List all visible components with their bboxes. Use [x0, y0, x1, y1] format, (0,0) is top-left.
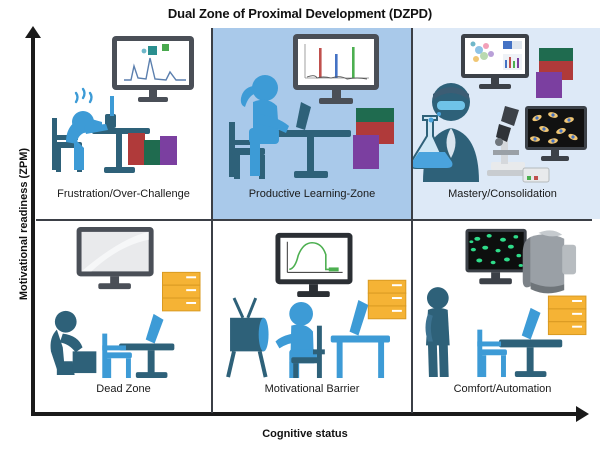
productive-learning-scene-icon	[213, 30, 411, 186]
server-stack	[548, 296, 586, 335]
y-axis-label: Motivational readiness (ZPM)	[18, 114, 30, 334]
quadrant-grid: Frustration/Over-Challenge	[36, 28, 592, 413]
quadrant-label: Productive Learning-Zone	[213, 188, 411, 200]
dead-zone-scene-icon	[36, 223, 211, 379]
quadrant-label: Dead Zone	[36, 383, 211, 395]
mastery-consolidation-scene-icon	[413, 30, 592, 186]
quadrant-dead-zone[interactable]: Dead Zone	[36, 221, 211, 413]
x-axis-label: Cognitive status	[31, 428, 579, 440]
quadrant-label: Mastery/Consolidation	[413, 188, 592, 200]
motivational-barrier-scene-icon	[213, 223, 411, 379]
quadrant-label: Comfort/Automation	[413, 383, 592, 395]
quadrant-comfort-automation[interactable]: Comfort/Automation	[413, 221, 592, 413]
grid-hline	[36, 219, 592, 221]
page-title: Dual Zone of Proximal Development (DZPD)	[0, 6, 600, 21]
quadrant-label: Motivational Barrier	[213, 383, 411, 395]
frustration-scene-icon	[36, 30, 211, 186]
server-stack	[163, 272, 201, 311]
y-axis-line	[31, 36, 35, 416]
quadrant-frustration-over-challenge[interactable]: Frustration/Over-Challenge	[36, 28, 211, 219]
server-stack	[368, 280, 406, 319]
quadrant-mastery-consolidation[interactable]: Mastery/Consolidation	[413, 28, 592, 219]
quadrant-motivational-barrier[interactable]: Motivational Barrier	[213, 221, 411, 413]
quadrant-label: Frustration/Over-Challenge	[36, 188, 211, 200]
quadrant-productive-learning-zone[interactable]: Productive Learning-Zone	[213, 28, 411, 219]
comfort-automation-scene-icon	[413, 223, 592, 379]
